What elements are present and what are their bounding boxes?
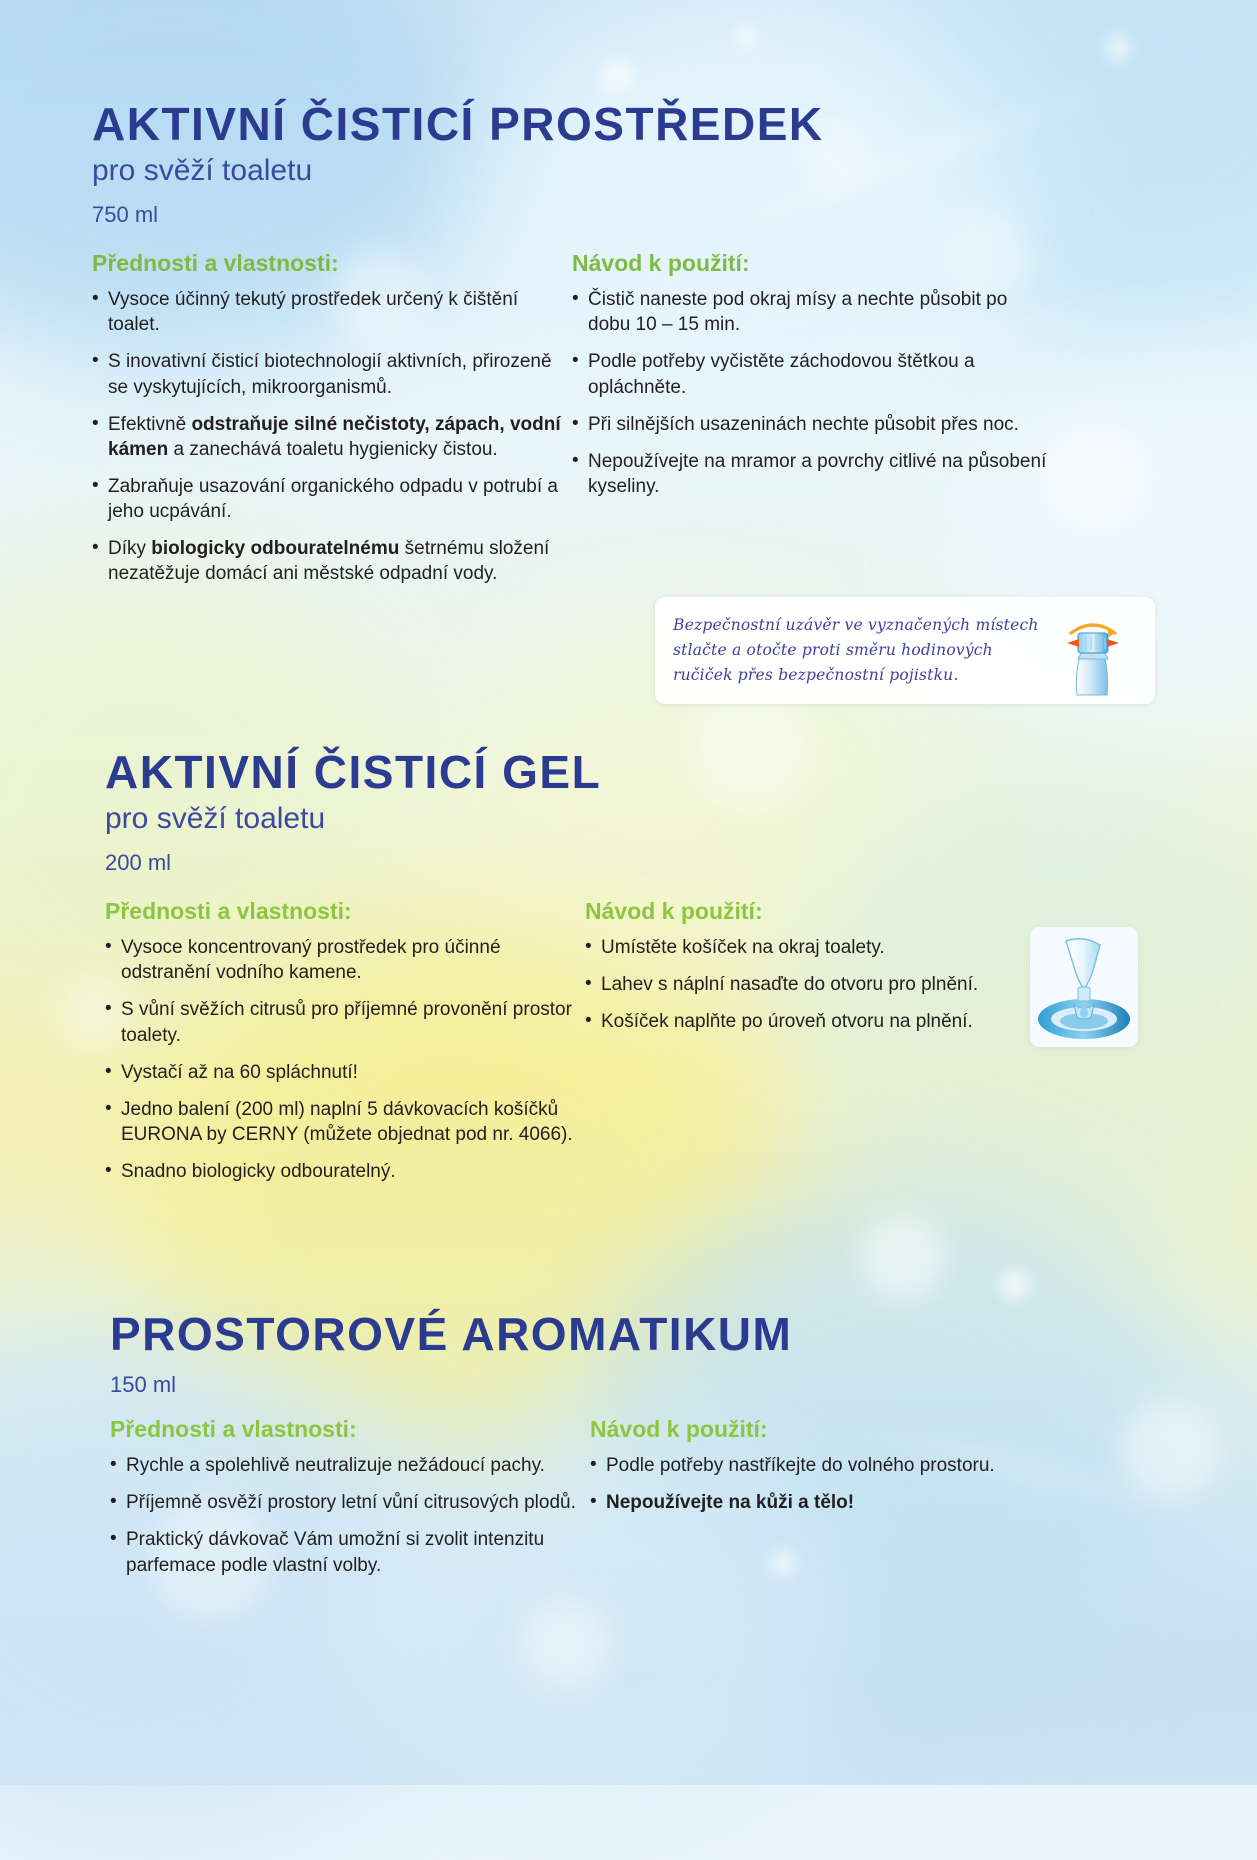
list-item-text: Košíček naplňte po úroveň otvoru na plně…: [601, 1011, 973, 1032]
list-item: Rychle a spolehlivě neutralizuje nežádou…: [110, 1453, 590, 1478]
list-item-text: Umístěte košíček na okraj toalety.: [601, 937, 885, 958]
features-heading: Přednosti a vlastnosti:: [92, 250, 572, 277]
list-item: Podle potřeby vyčistěte záchodovou štětk…: [572, 349, 1052, 399]
list-item: Při silnějších usazeninách nechte působi…: [572, 412, 1052, 437]
usage-list: Čistič naneste pod okraj mísy a nechte p…: [572, 287, 1052, 499]
list-item-text: Čistič naneste pod okraj mísy a nechte p…: [588, 289, 1007, 335]
list-item-text: Vysoce účinný tekutý prostředek určený k…: [108, 289, 518, 335]
list-item: Příjemně osvěží prostory letní vůní citr…: [110, 1490, 590, 1515]
list-item-text: Příjemně osvěží prostory letní vůní citr…: [126, 1492, 576, 1513]
features-list: Rychle a spolehlivě neutralizuje nežádou…: [110, 1453, 590, 1577]
list-item-text: Snadno biologicky odbouratelný.: [121, 1161, 396, 1182]
list-item: Jedno balení (200 ml) naplní 5 dávko­vac…: [105, 1097, 585, 1147]
gel-refill-bottle-illustration: [1030, 927, 1138, 1047]
list-item: Košíček naplňte po úroveň otvoru na plně…: [585, 1009, 1055, 1034]
section-prostorove-aromatikum: PROSTOROVÉ AROMATIKUM 150 ml Přednosti a…: [110, 1310, 1170, 1590]
list-item: Díky biologicky odbouratelnému šetrnému …: [92, 536, 572, 586]
bottle-safety-cap-illustration: [1045, 603, 1141, 699]
list-item-text: Lahev s náplní nasaďte do otvoru pro pln…: [601, 974, 978, 995]
list-item: Nepoužívejte na mramor a povrchy citlivé…: [572, 449, 1052, 499]
bokeh-dot: [735, 25, 757, 47]
list-item: Praktický dávkovač Vám umožní si zvolit …: [110, 1527, 590, 1577]
product-volume: 750 ml: [92, 202, 1172, 228]
list-item-emphasis: Nepoužívejte na kůži a tělo!: [606, 1492, 854, 1513]
usage-heading: Návod k použití:: [585, 898, 1055, 925]
features-heading: Přednosti a vlastnosti:: [105, 898, 585, 925]
list-item: Umístěte košíček na okraj toalety.: [585, 935, 1055, 960]
usage-column: Návod k použití: Podle potřeby nastříkej…: [590, 1416, 1090, 1589]
safety-cap-note-card: Bezpečnostní uzávěr ve vyznačených míste…: [655, 597, 1155, 704]
usage-column: Návod k použití: Umístěte košíček na okr…: [585, 898, 1055, 1196]
list-item-text: Jedno balení (200 ml) naplní 5 dávko­vac…: [121, 1099, 573, 1145]
list-item: S inovativní čisticí biotechnologií akti…: [92, 349, 572, 399]
list-item-text: Díky: [108, 538, 151, 559]
list-item: Efektivně odstraňuje silné nečistoty, zá…: [92, 412, 572, 462]
list-item-text: S inovativní čisticí biotechnologií akti…: [108, 351, 552, 397]
list-item-text: Podle potřeby vyčistěte záchodovou štětk…: [588, 351, 975, 397]
list-item-text: Podle potřeby nastříkejte do volného pro…: [606, 1455, 995, 1476]
list-item: Čistič naneste pod okraj mísy a nechte p…: [572, 287, 1052, 337]
list-item-text: Rychle a spolehlivě neutralizuje nežádou…: [126, 1455, 545, 1476]
features-list: Vysoce účinný tekutý prostředek určený k…: [92, 287, 572, 586]
safety-cap-note-text: Bezpečnostní uzávěr ve vyznačených míste…: [673, 613, 1039, 688]
usage-list: Umístěte košíček na okraj toalety.Lahev …: [585, 935, 1055, 1034]
list-item-text: Nepoužívejte na mramor a povrchy citlivé…: [588, 451, 1046, 497]
list-item: S vůní svěžích citrusů pro příjemné prov…: [105, 997, 585, 1047]
section-aktivni-cistici-gel: AKTIVNÍ ČISTICÍ GEL pro svěží toaletu 20…: [105, 748, 1165, 1196]
list-item-text: Vystačí až na 60 spláchnutí!: [121, 1062, 358, 1083]
bokeh-dot: [1105, 35, 1131, 61]
list-item: Zabraňuje usazování organického odpadu v…: [92, 474, 572, 524]
list-item-text: Vysoce koncentrovaný prostředek pro účin…: [121, 937, 501, 983]
features-column: Přednosti a vlastnosti: Rychle a spolehl…: [110, 1416, 590, 1589]
list-item: Podle potřeby nastříkejte do volného pro…: [590, 1453, 1090, 1478]
features-heading: Přednosti a vlastnosti:: [110, 1416, 590, 1443]
list-item: Lahev s náplní nasaďte do otvoru pro pln…: [585, 972, 1055, 997]
list-item: Snadno biologicky odbouratelný.: [105, 1159, 585, 1184]
list-item-emphasis: biologicky odbouratelnému: [151, 538, 399, 559]
section-aktivni-cistici-prostredek: AKTIVNÍ ČISTICÍ PROSTŘEDEK pro svěží toa…: [92, 100, 1172, 598]
list-item: Vysoce koncentrovaný prostředek pro účin…: [105, 935, 585, 985]
features-column: Přednosti a vlastnosti: Vysoce koncentro…: [105, 898, 585, 1196]
list-item-text: a zanechává toaletu hygienicky čistou.: [168, 439, 498, 460]
usage-column: Návod k použití: Čistič naneste pod okra…: [572, 250, 1052, 598]
list-item: Vystačí až na 60 spláchnutí!: [105, 1060, 585, 1085]
list-item: Vysoce účinný tekutý prostředek určený k…: [92, 287, 572, 337]
features-list: Vysoce koncentrovaný prostředek pro účin…: [105, 935, 585, 1184]
usage-heading: Návod k použití:: [572, 250, 1052, 277]
bokeh-dot: [600, 60, 634, 94]
features-column: Přednosti a vlastnosti: Vysoce účinný te…: [92, 250, 572, 598]
product-volume: 200 ml: [105, 850, 1165, 876]
bokeh-dot: [860, 1215, 945, 1300]
usage-heading: Návod k použití:: [590, 1416, 1090, 1443]
usage-list: Podle potřeby nastříkejte do volného pro…: [590, 1453, 1090, 1515]
list-item-text: Efektivně: [108, 414, 191, 435]
page-title: PROSTOROVÉ AROMATIKUM: [110, 1310, 1170, 1358]
bokeh-dot: [1000, 1270, 1030, 1300]
product-subtitle: pro svěží toaletu: [92, 154, 1172, 188]
list-item-text: Při silnějších usazeninách nechte působi…: [588, 414, 1019, 435]
product-volume: 150 ml: [110, 1372, 1170, 1398]
list-item-text: Zabraňuje usazování organického odpadu v…: [108, 476, 558, 522]
list-item: Nepoužívejte na kůži a tělo!: [590, 1490, 1090, 1515]
product-subtitle: pro svěží toaletu: [105, 802, 1165, 836]
page-title: AKTIVNÍ ČISTICÍ PROSTŘEDEK: [92, 100, 1172, 148]
page-title: AKTIVNÍ ČISTICÍ GEL: [105, 748, 1165, 796]
list-item-text: Praktický dávkovač Vám umožní si zvolit …: [126, 1529, 544, 1575]
bokeh-dot: [520, 1600, 610, 1690]
list-item-text: S vůní svěžích citrusů pro příjemné prov…: [121, 999, 572, 1045]
